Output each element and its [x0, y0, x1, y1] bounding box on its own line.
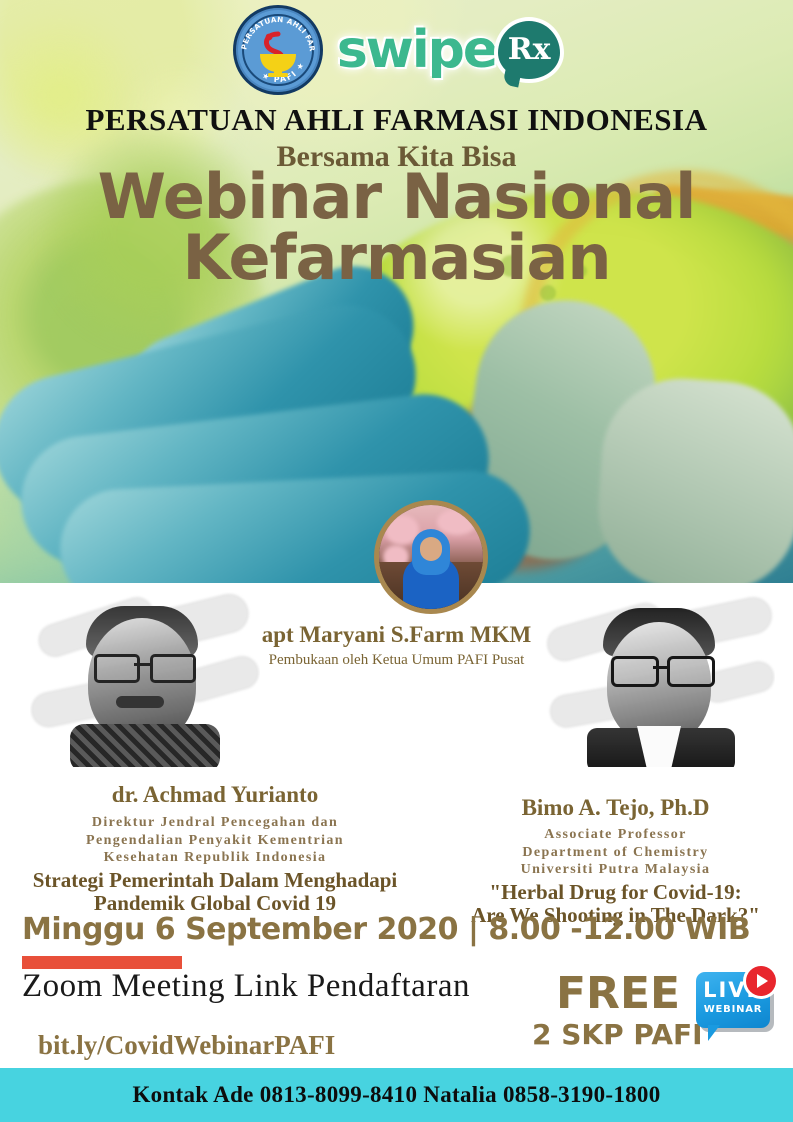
- live-webinar-badge-icon: LIVE WEBINAR: [694, 968, 780, 1046]
- page-title: Webinar Nasional Kefarmasian: [0, 165, 793, 289]
- logo-row: PERSATUAN AHLI FARMASI INDONESIA ★ PAFI …: [0, 6, 793, 94]
- speaker-photo-left: [30, 592, 260, 767]
- speaker-role-line: Department of Chemistry: [438, 844, 793, 862]
- glasses-lens: [611, 656, 659, 687]
- pafi-logo-icon: PERSATUAN AHLI FARMASI INDONESIA ★ PAFI …: [233, 5, 323, 95]
- speaker-info-right: Bimo A. Tejo, Ph.D Associate Professor D…: [438, 795, 793, 927]
- speaker-photo-right: [545, 592, 775, 767]
- portrait-glasses-icon: [94, 654, 190, 678]
- badge-webinar-label: WEBINAR: [694, 1004, 772, 1015]
- portrait-glasses-icon: [611, 656, 709, 682]
- contact-text: Kontak Ade 0813-8099-8410 Natalia 0858-3…: [132, 1082, 660, 1108]
- speaker-role-line: Universiti Putra Malaysia: [438, 861, 793, 879]
- portrait-moustache: [116, 696, 164, 708]
- glasses-lens: [150, 654, 196, 683]
- rx-bubble-icon: Rx: [498, 21, 560, 79]
- glasses-bridge: [134, 663, 150, 666]
- speaker-name: dr. Achmad Yurianto: [0, 782, 430, 808]
- contact-bar: Kontak Ade 0813-8099-8410 Natalia 0858-3…: [0, 1068, 793, 1122]
- webinar-poster: PERSATUAN AHLI FARMASI INDONESIA ★ PAFI …: [0, 0, 793, 1122]
- glasses-lens: [94, 654, 140, 683]
- speaker-role-line: Kesehatan Republik Indonesia: [0, 849, 430, 867]
- speaker-topic-line: "Herbal Drug for Covid-19:: [438, 881, 793, 904]
- glove-shape: [593, 373, 793, 583]
- swiperx-logo: swipe Rx: [337, 21, 560, 79]
- price-label: FREE: [556, 968, 680, 1019]
- rx-label: Rx: [508, 35, 551, 65]
- platform-label: Zoom Meeting Link Pendaftaran: [22, 968, 470, 1005]
- title-line-2: Kefarmasian: [0, 226, 793, 289]
- speaker-role: Direktur Jendral Pencegahan dan Pengenda…: [0, 814, 430, 867]
- registration-link[interactable]: bit.ly/CovidWebinarPAFI: [38, 1030, 335, 1061]
- speaker-role-line: Associate Professor: [438, 826, 793, 844]
- credits-label: 2 SKP PAFI: [532, 1018, 703, 1051]
- glasses-bridge: [653, 666, 667, 669]
- organization-title: PERSATUAN AHLI FARMASI INDONESIA: [0, 102, 793, 138]
- badge-tail: [708, 1025, 720, 1041]
- speaker-info-left: dr. Achmad Yurianto Direktur Jendral Pen…: [0, 782, 430, 915]
- speaker-topic-line: Strategi Pemerintah Dalam Menghadapi: [0, 869, 430, 892]
- speaker-role: Associate Professor Department of Chemis…: [438, 826, 793, 879]
- speaker-topic: Strategi Pemerintah Dalam Menghadapi Pan…: [0, 869, 430, 915]
- speaker-name: Bimo A. Tejo, Ph.D: [438, 795, 793, 821]
- portrait-clothing: [70, 724, 220, 767]
- avatar-face: [420, 537, 442, 561]
- event-datetime: Minggu 6 September 2020 | 8.00 -12.00 WI…: [22, 912, 750, 947]
- pafi-snake-bowl-icon: [252, 28, 304, 78]
- speaker-role-line: Direktur Jendral Pencegahan dan: [0, 814, 430, 832]
- blossom: [437, 509, 477, 535]
- play-triangle: [757, 974, 768, 988]
- speaker-role-line: Pengendalian Penyakit Kementrian: [0, 832, 430, 850]
- swipe-wordmark: swipe: [337, 24, 496, 76]
- brush-mask-portrait: [545, 592, 775, 767]
- center-speaker-avatar: [374, 500, 488, 614]
- glasses-lens: [667, 656, 715, 687]
- play-button-icon: [746, 966, 776, 996]
- brush-mask-portrait: [30, 592, 260, 767]
